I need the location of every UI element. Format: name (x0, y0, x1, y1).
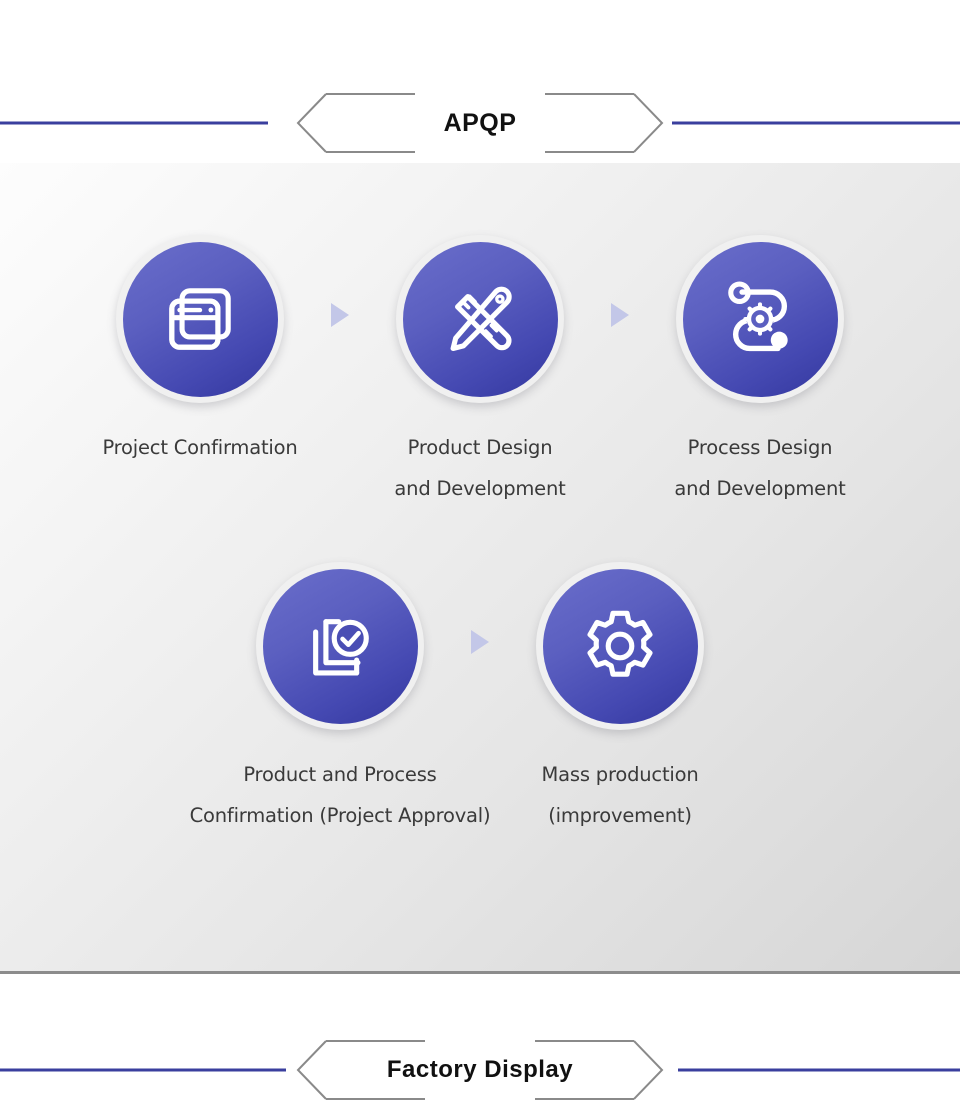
factory-display-section-header: Factory Display (0, 1039, 960, 1101)
section-title: Factory Display (377, 1056, 583, 1084)
hex-frame: Factory Display (293, 1039, 667, 1101)
icon-circle-inner (543, 569, 698, 724)
pencil-ruler-icon (439, 278, 521, 360)
process-flow-gear-icon (719, 278, 801, 360)
icon-circle-inner (263, 569, 418, 724)
step-label-line2: (improvement) (542, 795, 699, 836)
flow-arrow-1 (320, 301, 360, 329)
icon-circle (116, 235, 284, 403)
flow-step-project-confirmation[interactable]: Project Confirmation (80, 235, 320, 468)
header-rule-right (678, 1069, 960, 1072)
icon-circle (396, 235, 564, 403)
icon-circle-inner (403, 242, 558, 397)
icon-circle (536, 562, 704, 730)
step-label: Mass production (improvement) (542, 754, 699, 836)
icon-circle-inner (123, 242, 278, 397)
documents-check-icon (299, 605, 381, 687)
hex-frame: APQP (293, 92, 667, 154)
icon-circle-inner (683, 242, 838, 397)
flow-row-1: Project Confirmation (0, 235, 960, 509)
play-triangle-icon (469, 628, 491, 656)
flow-arrow-2 (600, 301, 640, 329)
flow-step-mass-production[interactable]: Mass production (improvement) (500, 562, 740, 836)
play-triangle-icon (329, 301, 351, 329)
step-label-line2: Confirmation (Project Approval) (190, 795, 491, 836)
icon-circle (676, 235, 844, 403)
header-rule-left (0, 1069, 286, 1072)
step-label-line2: and Development (394, 468, 565, 509)
step-label-line1: Mass production (542, 763, 699, 786)
step-label: Project Confirmation (102, 427, 297, 468)
step-label: Process Design and Development (674, 427, 845, 509)
header-rule-right (672, 122, 960, 125)
page-title: APQP (434, 109, 527, 138)
step-label: Product Design and Development (394, 427, 565, 509)
flow-step-process-design[interactable]: Process Design and Development (640, 235, 880, 509)
play-triangle-icon (609, 301, 631, 329)
apqp-flow-panel: Project Confirmation (0, 163, 960, 974)
step-label-line1: Product Design (408, 436, 553, 459)
step-label-line1: Project Confirmation (102, 436, 297, 459)
header-rule-left (0, 122, 268, 125)
step-label-line1: Product and Process (243, 763, 436, 786)
step-label-line1: Process Design (688, 436, 833, 459)
apqp-section-header: APQP (0, 92, 960, 154)
flow-step-product-design[interactable]: Product Design and Development (360, 235, 600, 509)
step-label-line2: and Development (674, 468, 845, 509)
icon-circle (256, 562, 424, 730)
flow-arrow-3 (460, 628, 500, 656)
flow-step-product-process-confirmation[interactable]: Product and Process Confirmation (Projec… (220, 562, 460, 836)
stacked-windows-icon (159, 278, 241, 360)
step-label: Product and Process Confirmation (Projec… (190, 754, 491, 836)
gear-icon (579, 605, 661, 687)
flow-row-2: Product and Process Confirmation (Projec… (0, 562, 960, 836)
